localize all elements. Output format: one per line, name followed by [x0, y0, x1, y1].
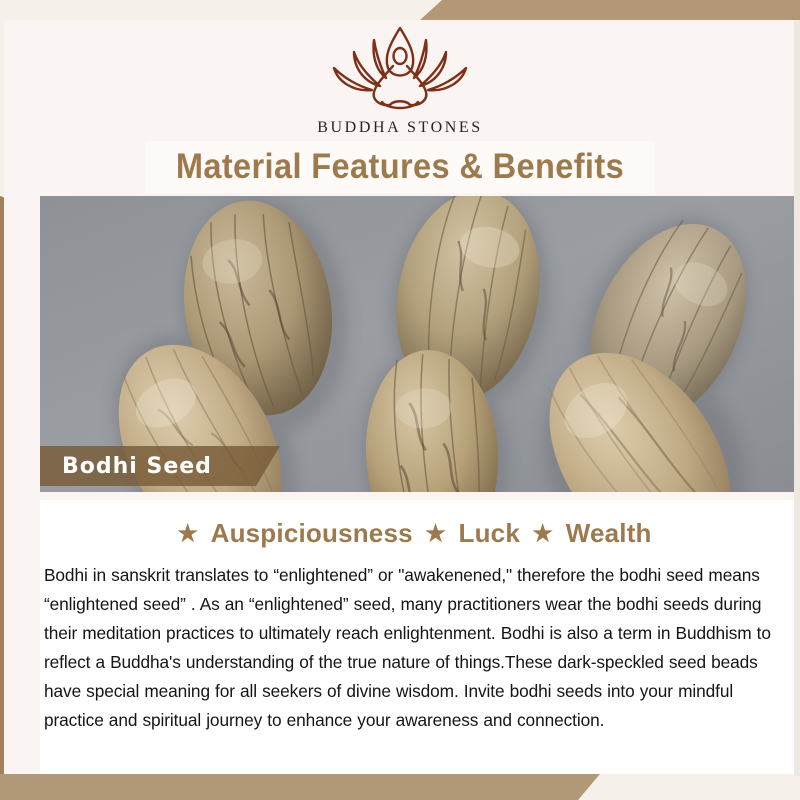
photo-caption-text: Bodhi Seed: [62, 454, 212, 479]
benefit-label-2: Wealth: [566, 518, 652, 549]
star-icon: ★: [425, 520, 446, 547]
description-text: Bodhi in sanskrit translates to “enlight…: [44, 561, 786, 735]
product-info-poster: BUDDHA STONES Material Features & Benefi…: [0, 0, 800, 800]
benefit-label-0: Auspiciousness: [211, 518, 413, 549]
star-icon: ★: [177, 520, 198, 547]
description-panel: ★ Auspiciousness ★ Luck ★ Wealth Bodhi i…: [40, 500, 794, 774]
title-banner: Material Features & Benefits: [145, 141, 655, 193]
top-decorative-band: [420, 0, 800, 20]
bottom-decorative-band: [0, 774, 600, 800]
benefit-label-1: Luck: [459, 518, 520, 549]
page-title: Material Features & Benefits: [176, 147, 624, 187]
brand-name: BUDDHA STONES: [317, 119, 483, 137]
star-icon: ★: [532, 520, 553, 547]
benefits-heading: ★ Auspiciousness ★ Luck ★ Wealth: [40, 500, 794, 549]
lotus-meditation-icon: [310, 22, 490, 117]
brand-logo: BUDDHA STONES: [0, 22, 800, 137]
photo-caption: Bodhi Seed: [40, 446, 280, 486]
